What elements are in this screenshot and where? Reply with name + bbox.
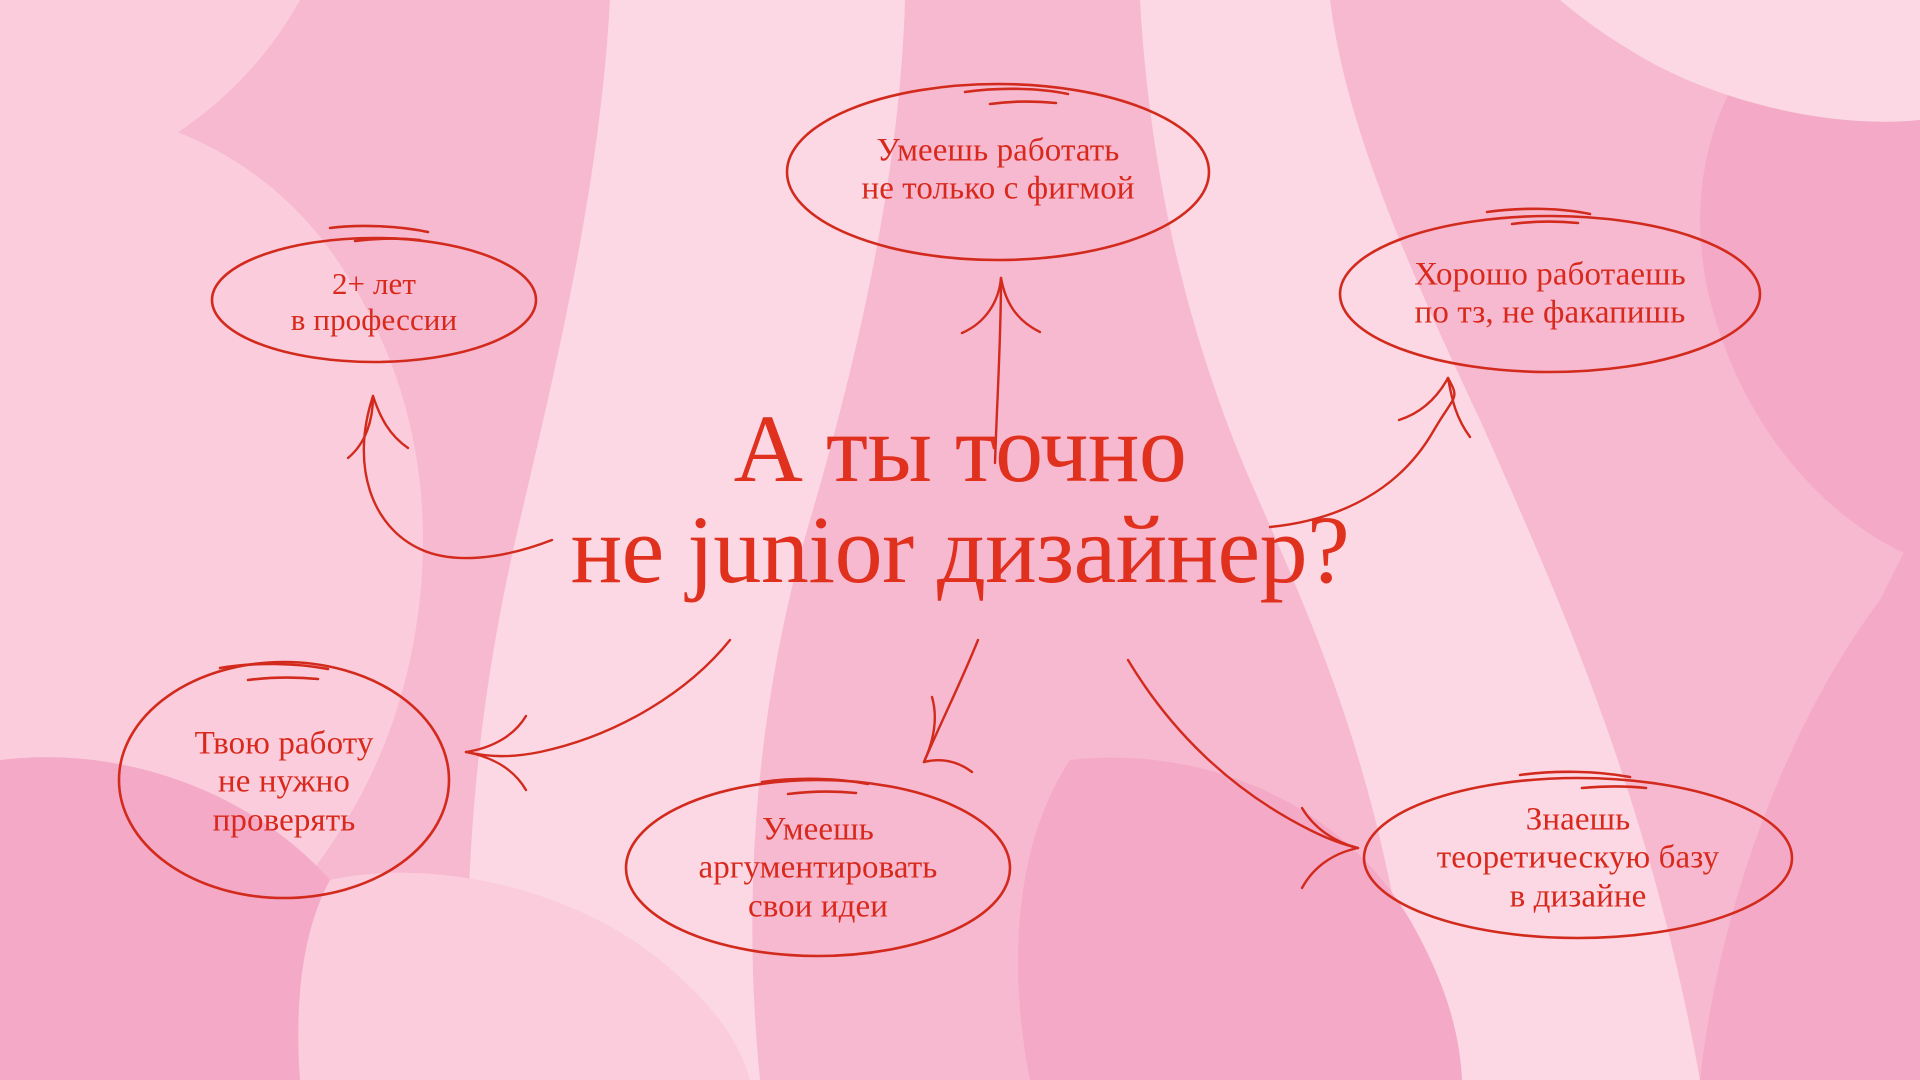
bubble-label-argue-ideas: Умеешь аргументировать свои идеи: [633, 811, 1003, 926]
page-title: А ты точно не junior дизайнер?: [410, 399, 1510, 601]
bubble-label-not-only-figma: Умеешь работать не только с фигмой: [798, 132, 1198, 209]
bubble-label-theory-base: Знаешь теоретическую базу в дизайне: [1373, 801, 1783, 916]
slide-canvas: 2+ лет в профессии Умеешь работать не то…: [0, 0, 1920, 1080]
bubble-label-no-review-needed: Твою работу не нужно проверять: [134, 725, 434, 840]
bubble-label-years-in-profession: 2+ лет в профессии: [224, 266, 524, 338]
bubble-label-works-by-spec: Хорошо работаешь по тз, не факапишь: [1350, 256, 1750, 333]
